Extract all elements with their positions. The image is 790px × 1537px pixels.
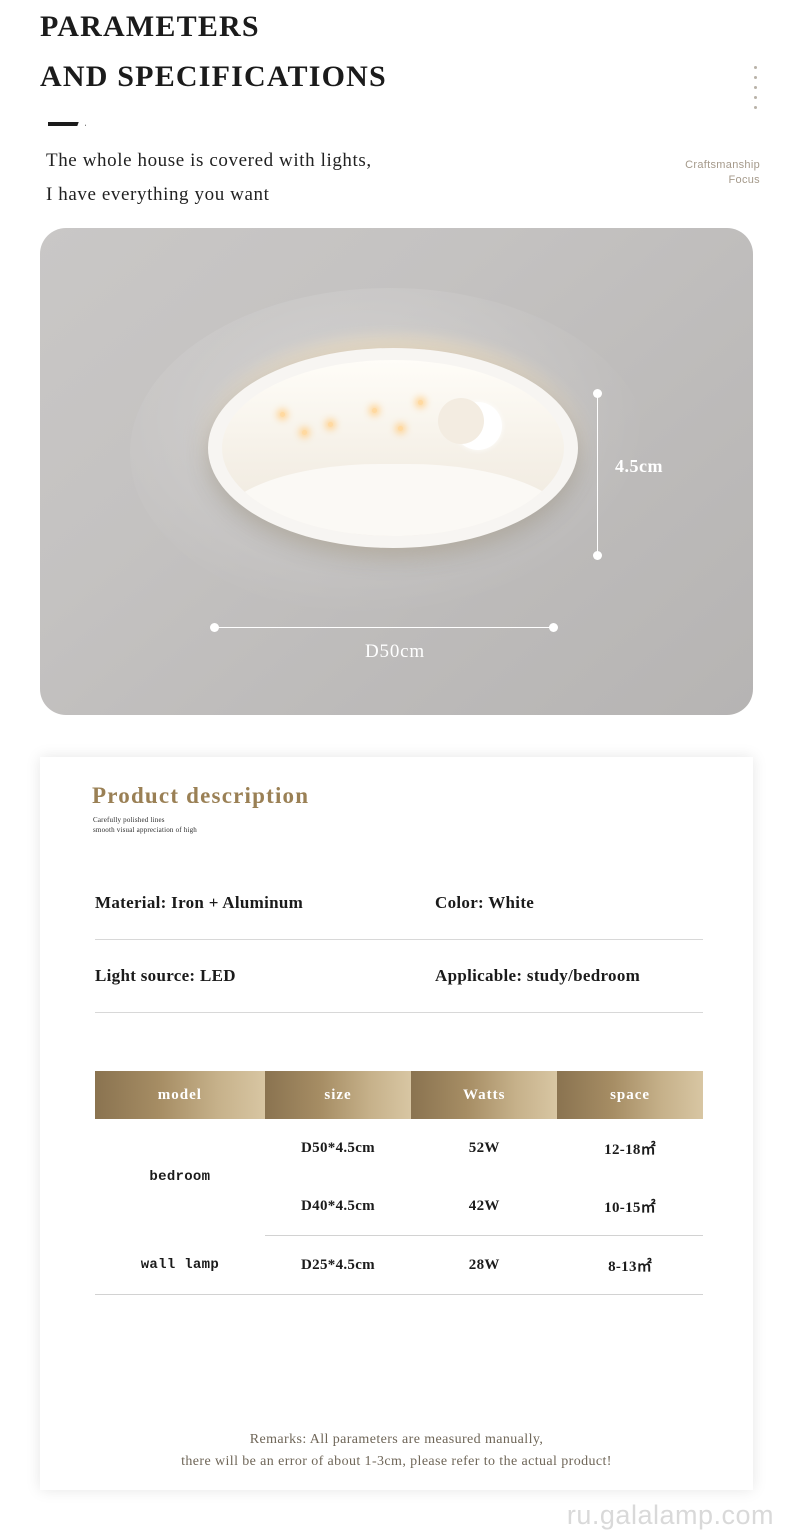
spec-material: Material: Iron + Aluminum [95,893,303,913]
product-description-card: Product description Carefully polished l… [40,757,753,1490]
cell-space-1: 12-18㎡ [557,1119,703,1177]
cell-size-2: D40*4.5cm [265,1177,412,1236]
page-title-line-2: AND SPECIFICATIONS [40,60,387,94]
star-icon [280,412,285,417]
cell-model-wall-lamp: wall lamp [95,1236,265,1295]
cell-size-3: D25*4.5cm [265,1236,412,1295]
remarks-note: Remarks: All parameters are measured man… [40,1429,753,1473]
star-icon [328,422,333,427]
lamp-panel [222,360,564,536]
star-icon [372,408,377,413]
cell-space-3: 8-13㎡ [557,1236,703,1295]
subtitle-line-1: The whole house is covered with lights, [46,150,372,172]
subtitle-line-2: I have everything you want [46,184,269,206]
craftsmanship-line-2: Focus [600,173,760,188]
cell-watts-2: 42W [411,1177,557,1236]
table-header-row: model size Watts space [95,1071,703,1119]
column-header-space: space [557,1071,703,1119]
column-header-watts: Watts [411,1071,557,1119]
spec-row-material: Material: Iron + Aluminum Color: White [95,885,703,940]
cell-space-1-value: 12-18 [604,1142,641,1158]
table-row: bedroom D50*4.5cm 52W 12-18㎡ [95,1119,703,1177]
remarks-line-2: there will be an error of about 1-3cm, p… [40,1451,753,1473]
cell-watts-1: 52W [411,1119,557,1177]
cell-size-1: D50*4.5cm [265,1119,412,1177]
star-icon [398,426,403,431]
table-row: wall lamp D25*4.5cm 28W 8-13㎡ [95,1236,703,1295]
page-title-line-1: PARAMETERS [40,10,260,44]
column-header-size: size [265,1071,412,1119]
card-subtitle: Carefully polished lines smooth visual a… [93,815,197,835]
cell-space-3-value: 8-13 [608,1259,637,1275]
craftsmanship-line-1: Craftsmanship [600,158,760,173]
card-subtitle-line-2: smooth visual appreciation of high [93,825,197,835]
divider-dash [48,122,86,126]
column-header-model: model [95,1071,265,1119]
diameter-dimension-label: D50cm [0,641,790,663]
craftsmanship-note: Craftsmanship Focus [600,158,760,188]
cell-watts-3: 28W [411,1236,557,1295]
height-dimension-label: 4.5cm [615,456,663,477]
table-header: model size Watts space [95,1071,703,1119]
spec-color: Color: White [435,893,534,913]
spec-row-light-source: Light source: LED Applicable: study/bedr… [95,958,703,1013]
spec-light-source: Light source: LED [95,966,236,986]
card-title: Product description [92,783,309,809]
spec-applicable: Applicable: study/bedroom [435,966,640,986]
card-subtitle-line-1: Carefully polished lines [93,815,197,825]
cell-space-2: 10-15㎡ [557,1177,703,1236]
moon-icon [454,402,502,450]
site-watermark: ru.galalamp.com [567,1500,774,1531]
cell-space-2-value: 10-15 [604,1200,641,1216]
ceiling-lamp-illustration [208,348,578,548]
cell-model-bedroom: bedroom [95,1119,265,1236]
star-icon [418,400,423,405]
diameter-dimension-line [214,627,554,628]
remarks-line-1: Remarks: All parameters are measured man… [40,1429,753,1451]
star-icon [302,430,307,435]
vertical-dots-icon [754,66,757,109]
table-body: bedroom D50*4.5cm 52W 12-18㎡ D40*4.5cm 4… [95,1119,703,1295]
specification-table: model size Watts space bedroom D50*4.5cm… [95,1071,703,1295]
height-dimension-line [597,393,598,556]
cloud-shape [222,464,564,536]
